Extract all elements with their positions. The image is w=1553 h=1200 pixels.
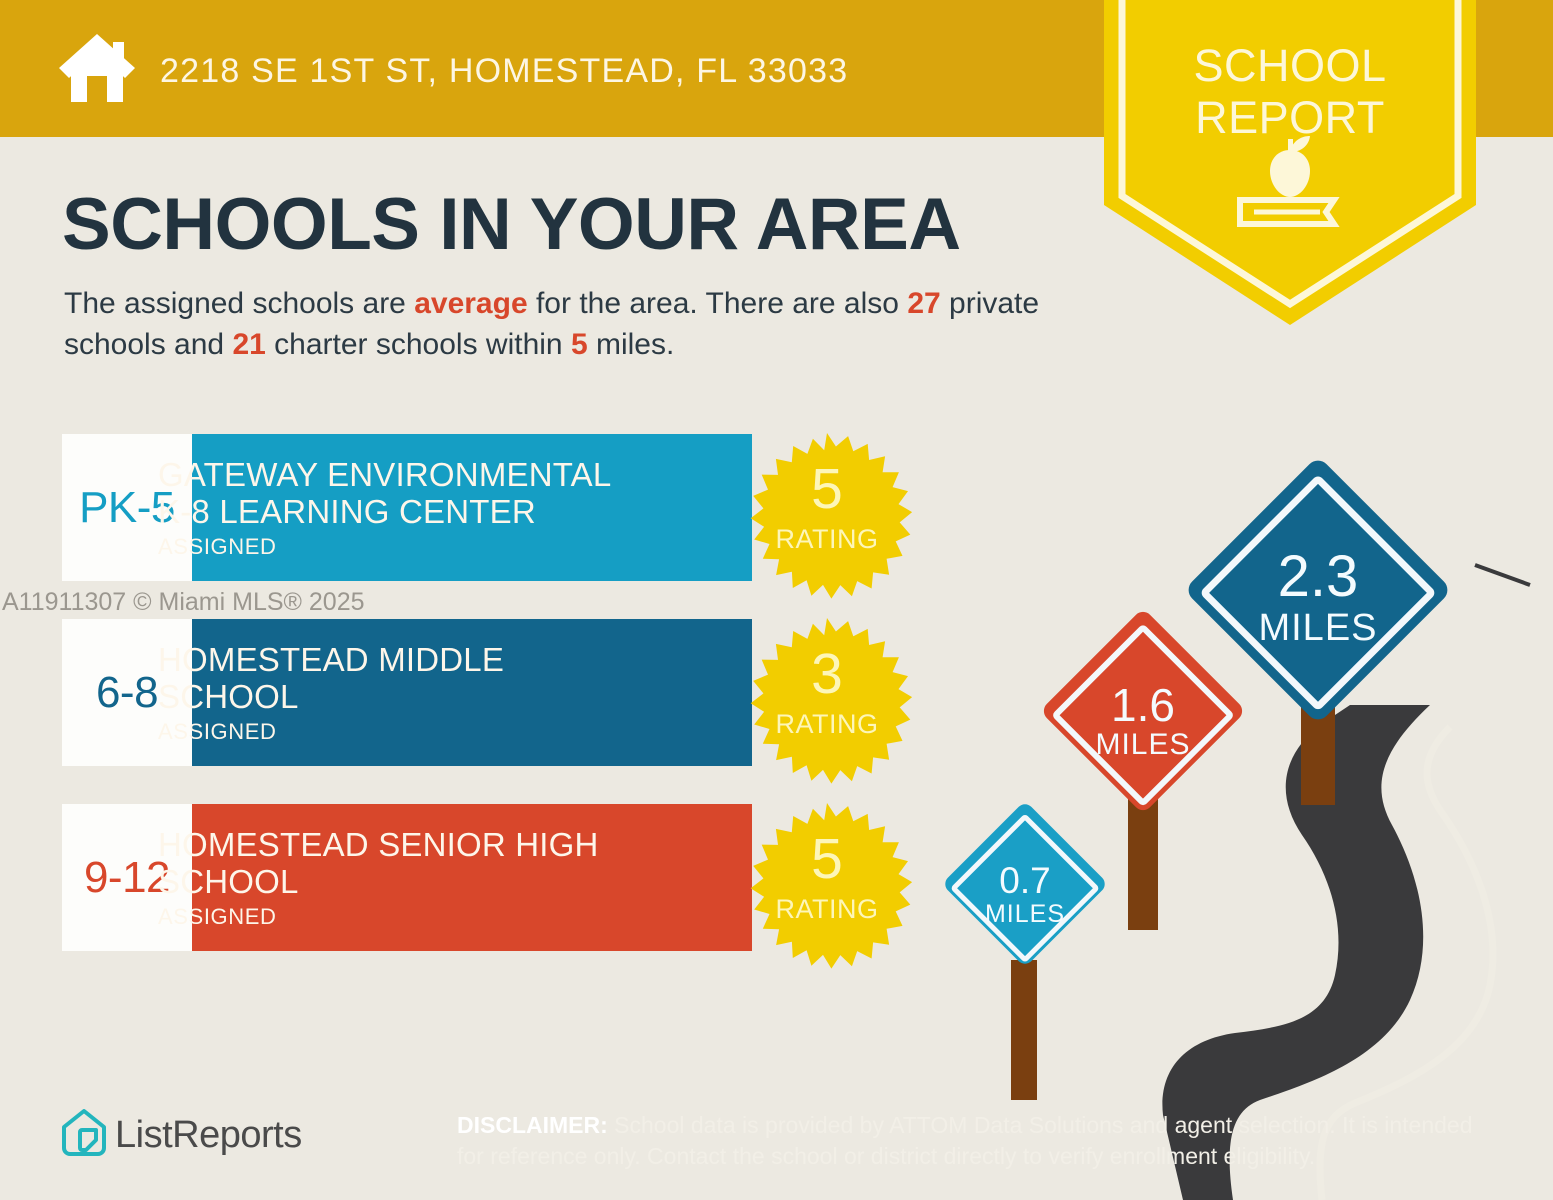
summary-highlight-radius: 5 [571, 328, 588, 361]
distance-illustration: 2.3 MILES 1.6 MILES 0.7 MILES [930, 455, 1553, 1200]
school-name: HOMESTEAD MIDDLE SCHOOL [158, 641, 628, 715]
rating-badge: 3 RATING [741, 616, 913, 788]
mls-watermark: A11911307 © Miami MLS® 2025 [2, 588, 365, 617]
rating-value: 5 [741, 831, 913, 888]
school-status: ASSIGNED [158, 719, 277, 745]
school-status: ASSIGNED [158, 904, 277, 930]
summary-part-5: miles. [588, 328, 675, 361]
sign-distance-value: 1.6 [1070, 682, 1216, 728]
summary-part-1: The assigned schools are [64, 287, 414, 320]
page-title: SCHOOLS IN YOUR AREA [62, 186, 961, 264]
school-status: ASSIGNED [158, 534, 277, 560]
summary-part-4: charter schools within [266, 328, 571, 361]
rating-badge: 5 RATING [741, 431, 913, 603]
rating-label: RATING [741, 524, 913, 555]
sign-distance-value: 2.3 [1223, 548, 1413, 606]
banner-title: SCHOOL REPORT [1104, 40, 1476, 144]
summary-highlight-average: average [414, 287, 527, 320]
summary-highlight-charter-count: 21 [232, 328, 265, 361]
disclaimer-body: School data is provided by ATTOM Data So… [457, 1112, 1473, 1169]
rating-label: RATING [741, 709, 913, 740]
rating-value: 5 [741, 461, 913, 518]
summary-part-2: for the area. There are also [528, 287, 908, 320]
rating-badge: 5 RATING [741, 801, 913, 973]
antenna-line [1475, 565, 1530, 585]
sign-distance-unit: MILES [966, 902, 1084, 927]
school-name: GATEWAY ENVIRONMENTAL K-8 LEARNING CENTE… [158, 456, 628, 530]
sign-distance-unit: MILES [1223, 609, 1413, 647]
summary-highlight-private-count: 27 [907, 287, 940, 320]
banner-line-1: SCHOOL [1104, 40, 1476, 92]
property-address: 2218 SE 1ST ST, HOMESTEAD, FL 33033 [160, 52, 848, 91]
disclaimer-label: DISCLAIMER: [457, 1112, 608, 1138]
sign-distance-unit: MILES [1070, 730, 1216, 760]
sign-distance-value: 0.7 [966, 862, 1084, 899]
school-report-banner: SCHOOL REPORT [1104, 0, 1476, 325]
listreports-logo[interactable]: ListReports [60, 1108, 108, 1164]
rating-label: RATING [741, 894, 913, 925]
listreports-wordmark: ListReports [115, 1114, 302, 1157]
school-report-infographic: 2218 SE 1ST ST, HOMESTEAD, FL 33033 SCHO… [0, 0, 1553, 1200]
summary-text: The assigned schools are average for the… [64, 283, 1104, 365]
listreports-house-icon [60, 1108, 108, 1160]
rating-value: 3 [741, 646, 913, 703]
home-icon [57, 32, 137, 104]
disclaimer-text: DISCLAIMER: School data is provided by A… [457, 1110, 1487, 1172]
banner-line-2: REPORT [1104, 92, 1476, 144]
sign-post [1011, 960, 1037, 1100]
school-name: HOMESTEAD SENIOR HIGH SCHOOL [158, 826, 628, 900]
